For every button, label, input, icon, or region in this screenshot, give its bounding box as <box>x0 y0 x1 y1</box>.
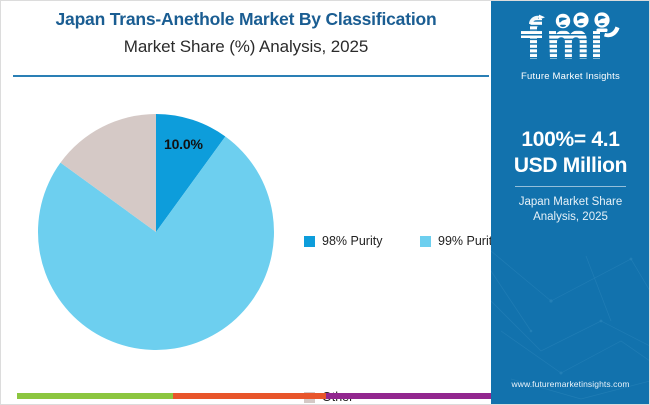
market-value-line2: USD Million <box>491 153 650 179</box>
pie-data-label-98-purity: 10.0% <box>164 136 203 152</box>
page-title: Japan Trans-Anethole Market By Classific… <box>1 9 491 30</box>
page-subtitle: Market Share (%) Analysis, 2025 <box>1 37 491 57</box>
pie-chart-area: 10.0% 98% Purity 99% Purity Other <box>1 79 491 379</box>
panel-caption: Japan Market Share Analysis, 2025 <box>491 195 650 225</box>
website-url[interactable]: www.futuremarketinsights.com <box>491 379 650 389</box>
infographic-card: Japan Trans-Anethole Market By Classific… <box>0 0 650 405</box>
footer-strip-purple <box>326 393 491 399</box>
footer-strip-green <box>17 393 173 399</box>
legend-label-98-purity: 98% Purity <box>322 234 382 248</box>
pie-chart <box>31 107 281 357</box>
fmi-logo-tagline: Future Market Insights <box>491 71 650 82</box>
header: Japan Trans-Anethole Market By Classific… <box>1 1 491 79</box>
legend-item-99-purity[interactable]: 99% Purity <box>420 234 498 248</box>
market-value: 100%= 4.1 USD Million <box>491 127 650 179</box>
panel-caption-line2: Analysis, 2025 <box>491 210 650 225</box>
panel-divider <box>515 186 626 187</box>
market-value-line1: 100%= 4.1 <box>521 128 619 151</box>
fmi-logo: Future Market Insights <box>491 11 650 82</box>
footer-strip-orange <box>173 393 326 399</box>
legend-swatch-98-purity <box>304 236 315 247</box>
panel-caption-line1: Japan Market Share <box>491 195 650 210</box>
side-panel: Future Market Insights 100%= 4.1 USD Mil… <box>491 1 650 404</box>
fmi-logo-icon <box>509 11 633 69</box>
legend-item-98-purity[interactable]: 98% Purity <box>304 234 382 248</box>
header-divider <box>13 75 489 77</box>
legend-swatch-99-purity <box>420 236 431 247</box>
legend-label-99-purity: 99% Purity <box>438 234 498 248</box>
